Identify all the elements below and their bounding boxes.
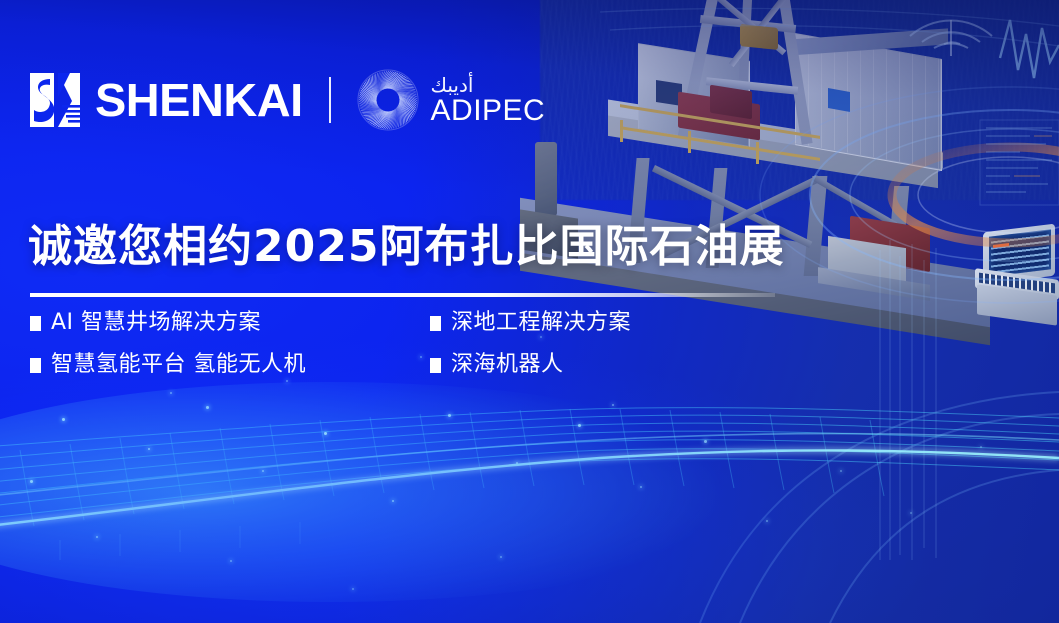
list-item: 深海机器人 bbox=[430, 354, 564, 376]
list-item: AI 智慧井场解决方案 bbox=[30, 312, 261, 334]
shenkai-wordmark: SHENKAI bbox=[95, 77, 303, 123]
feature-list: AI 智慧井场解决方案 深地工程解决方案 智慧氢能平台 氢能无人机 bbox=[30, 312, 730, 396]
feature-column-right: 深海机器人 bbox=[430, 354, 730, 378]
adipec-logo: أديبك ADIPEC bbox=[357, 69, 546, 131]
logo-lockup: SHENKAI bbox=[28, 62, 545, 138]
feature-label: 智慧氢能平台 氢能无人机 bbox=[51, 354, 306, 376]
feature-row: AI 智慧井场解决方案 深地工程解决方案 bbox=[30, 312, 730, 354]
feature-column-left: 智慧氢能平台 氢能无人机 bbox=[30, 354, 430, 378]
adipec-radial-burst-icon bbox=[357, 69, 419, 131]
title-underline bbox=[30, 293, 775, 297]
banner-content: SHENKAI bbox=[0, 0, 1059, 623]
page-title: 诚邀您相约2025阿布扎比国际石油展 bbox=[28, 225, 784, 269]
square-bullet-icon bbox=[430, 316, 441, 331]
feature-column-left: AI 智慧井场解决方案 bbox=[30, 312, 430, 336]
adipec-invitation-banner: SHENKAI bbox=[0, 0, 1059, 623]
square-bullet-icon bbox=[30, 358, 41, 373]
list-item: 智慧氢能平台 氢能无人机 bbox=[30, 354, 306, 376]
shenkai-sk-monogram-icon bbox=[28, 71, 82, 129]
square-bullet-icon bbox=[30, 316, 41, 331]
square-bullet-icon bbox=[430, 358, 441, 373]
feature-label: AI 智慧井场解决方案 bbox=[51, 312, 261, 334]
feature-label: 深海机器人 bbox=[451, 354, 564, 376]
vertical-divider-icon bbox=[329, 77, 331, 123]
adipec-wordmark-block: أديبك ADIPEC bbox=[431, 75, 546, 126]
feature-label: 深地工程解决方案 bbox=[451, 312, 631, 334]
adipec-arabic-wordmark: أديبك bbox=[431, 75, 474, 95]
feature-column-right: 深地工程解决方案 bbox=[430, 312, 730, 336]
feature-row: 智慧氢能平台 氢能无人机 深海机器人 bbox=[30, 354, 730, 396]
adipec-latin-wordmark: ADIPEC bbox=[431, 96, 546, 126]
list-item: 深地工程解决方案 bbox=[430, 312, 631, 334]
